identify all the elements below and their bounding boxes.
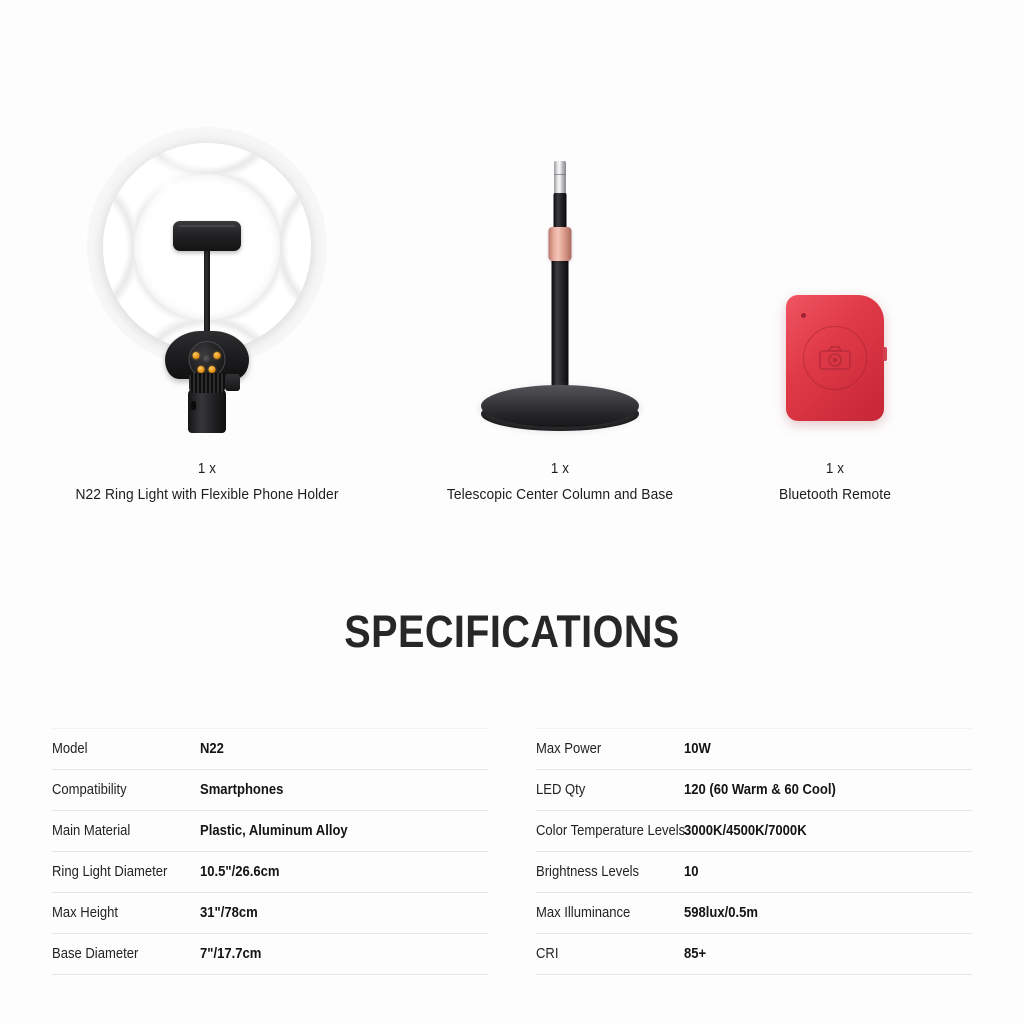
phone-holder-gooseneck [204,249,210,335]
spec-row: Main Material Plastic, Aluminum Alloy [52,811,488,852]
stand-base-disc [481,385,639,427]
spec-row: Brightness Levels 10 [536,852,972,893]
remote-body [786,295,884,421]
spec-row: Color Temperature Levels 3000K/4500K/700… [536,811,972,852]
spec-label: Max Illuminance [536,905,669,921]
tripod-stand-icon [420,135,700,455]
stand-top-tip [554,161,566,197]
camera-icon [818,345,852,371]
specifications-tables: Model N22 Compatibility Smartphones Main… [0,728,1024,975]
spec-row: CRI 85+ [536,934,972,975]
remote-side-button [883,347,887,361]
product-item-center-column: 1 x Telescopic Center Column and Base [420,135,700,503]
control-button-power [203,355,212,364]
item-name: Bluetooth Remote [729,486,941,503]
spec-label: Main Material [52,823,185,839]
item-quantity: 1 x [74,461,341,477]
control-button-brightness-down [198,366,205,373]
specifications-title: SPECIFICATIONS [61,606,962,658]
spec-row: Model N22 [52,728,488,770]
item-quantity: 1 x [431,461,689,477]
ring-light-icon [62,135,352,455]
control-button-warm [193,352,200,359]
spec-row: Max Power 10W [536,728,972,770]
spec-value: 85+ [684,946,943,962]
spec-value: 31"/78cm [200,905,459,921]
spec-label: Base Diameter [52,946,185,962]
stand-main-pole [552,255,569,405]
spec-label: Brightness Levels [536,864,669,880]
item-quantity: 1 x [729,461,941,477]
tightening-knob [225,374,240,391]
spec-label: LED Qty [536,782,669,798]
spec-value: 10W [684,741,943,757]
spec-label: Max Height [52,905,185,921]
spec-row: Base Diameter 7"/17.7cm [52,934,488,975]
spec-value: 7"/17.7cm [200,946,459,962]
spec-value: N22 [200,741,459,757]
control-button-cool [214,352,221,359]
spec-label: Compatibility [52,782,185,798]
control-button-brightness-up [209,366,216,373]
spec-value: 10.5"/26.6cm [200,864,459,880]
spec-value: 10 [684,864,943,880]
stand-rose-gold-collar [549,227,572,261]
spec-row: Ring Light Diameter 10.5"/26.6cm [52,852,488,893]
spec-label: Color Temperature Levels [536,823,669,839]
product-showcase: 1 x N22 Ring Light with Flexible Phone H… [0,0,1024,560]
spec-row: LED Qty 120 (60 Warm & 60 Cool) [536,770,972,811]
spec-value: Smartphones [200,782,459,798]
spec-label: Max Power [536,741,669,757]
mount-cylinder [188,389,226,433]
spec-label: CRI [536,946,669,962]
product-item-bluetooth-remote: 1 x Bluetooth Remote [720,135,950,503]
stand-upper-pole [554,193,567,231]
spec-row: Max Height 31"/78cm [52,893,488,934]
item-name: N22 Ring Light with Flexible Phone Holde… [74,486,341,503]
product-item-ring-light: 1 x N22 Ring Light with Flexible Phone H… [62,135,352,503]
specifications-column-left: Model N22 Compatibility Smartphones Main… [52,728,488,975]
spec-value: 120 (60 Warm & 60 Cool) [684,782,943,798]
bluetooth-remote-icon [720,135,950,455]
spec-value: 3000K/4500K/7000K [684,823,943,839]
remote-led-indicator [801,313,806,318]
ring-light-housing [165,331,249,379]
phone-holder-clamp [173,221,241,251]
spec-label: Ring Light Diameter [52,864,185,880]
remote-shutter-button [803,326,867,390]
spec-label: Model [52,741,185,757]
specifications-column-right: Max Power 10W LED Qty 120 (60 Warm & 60 … [536,728,972,975]
spec-row: Compatibility Smartphones [52,770,488,811]
spec-value: 598lux/0.5m [684,905,943,921]
item-name: Telescopic Center Column and Base [431,486,689,503]
spec-value: Plastic, Aluminum Alloy [200,823,459,839]
spec-row: Max Illuminance 598lux/0.5m [536,893,972,934]
ball-joint-hinge [189,373,225,393]
